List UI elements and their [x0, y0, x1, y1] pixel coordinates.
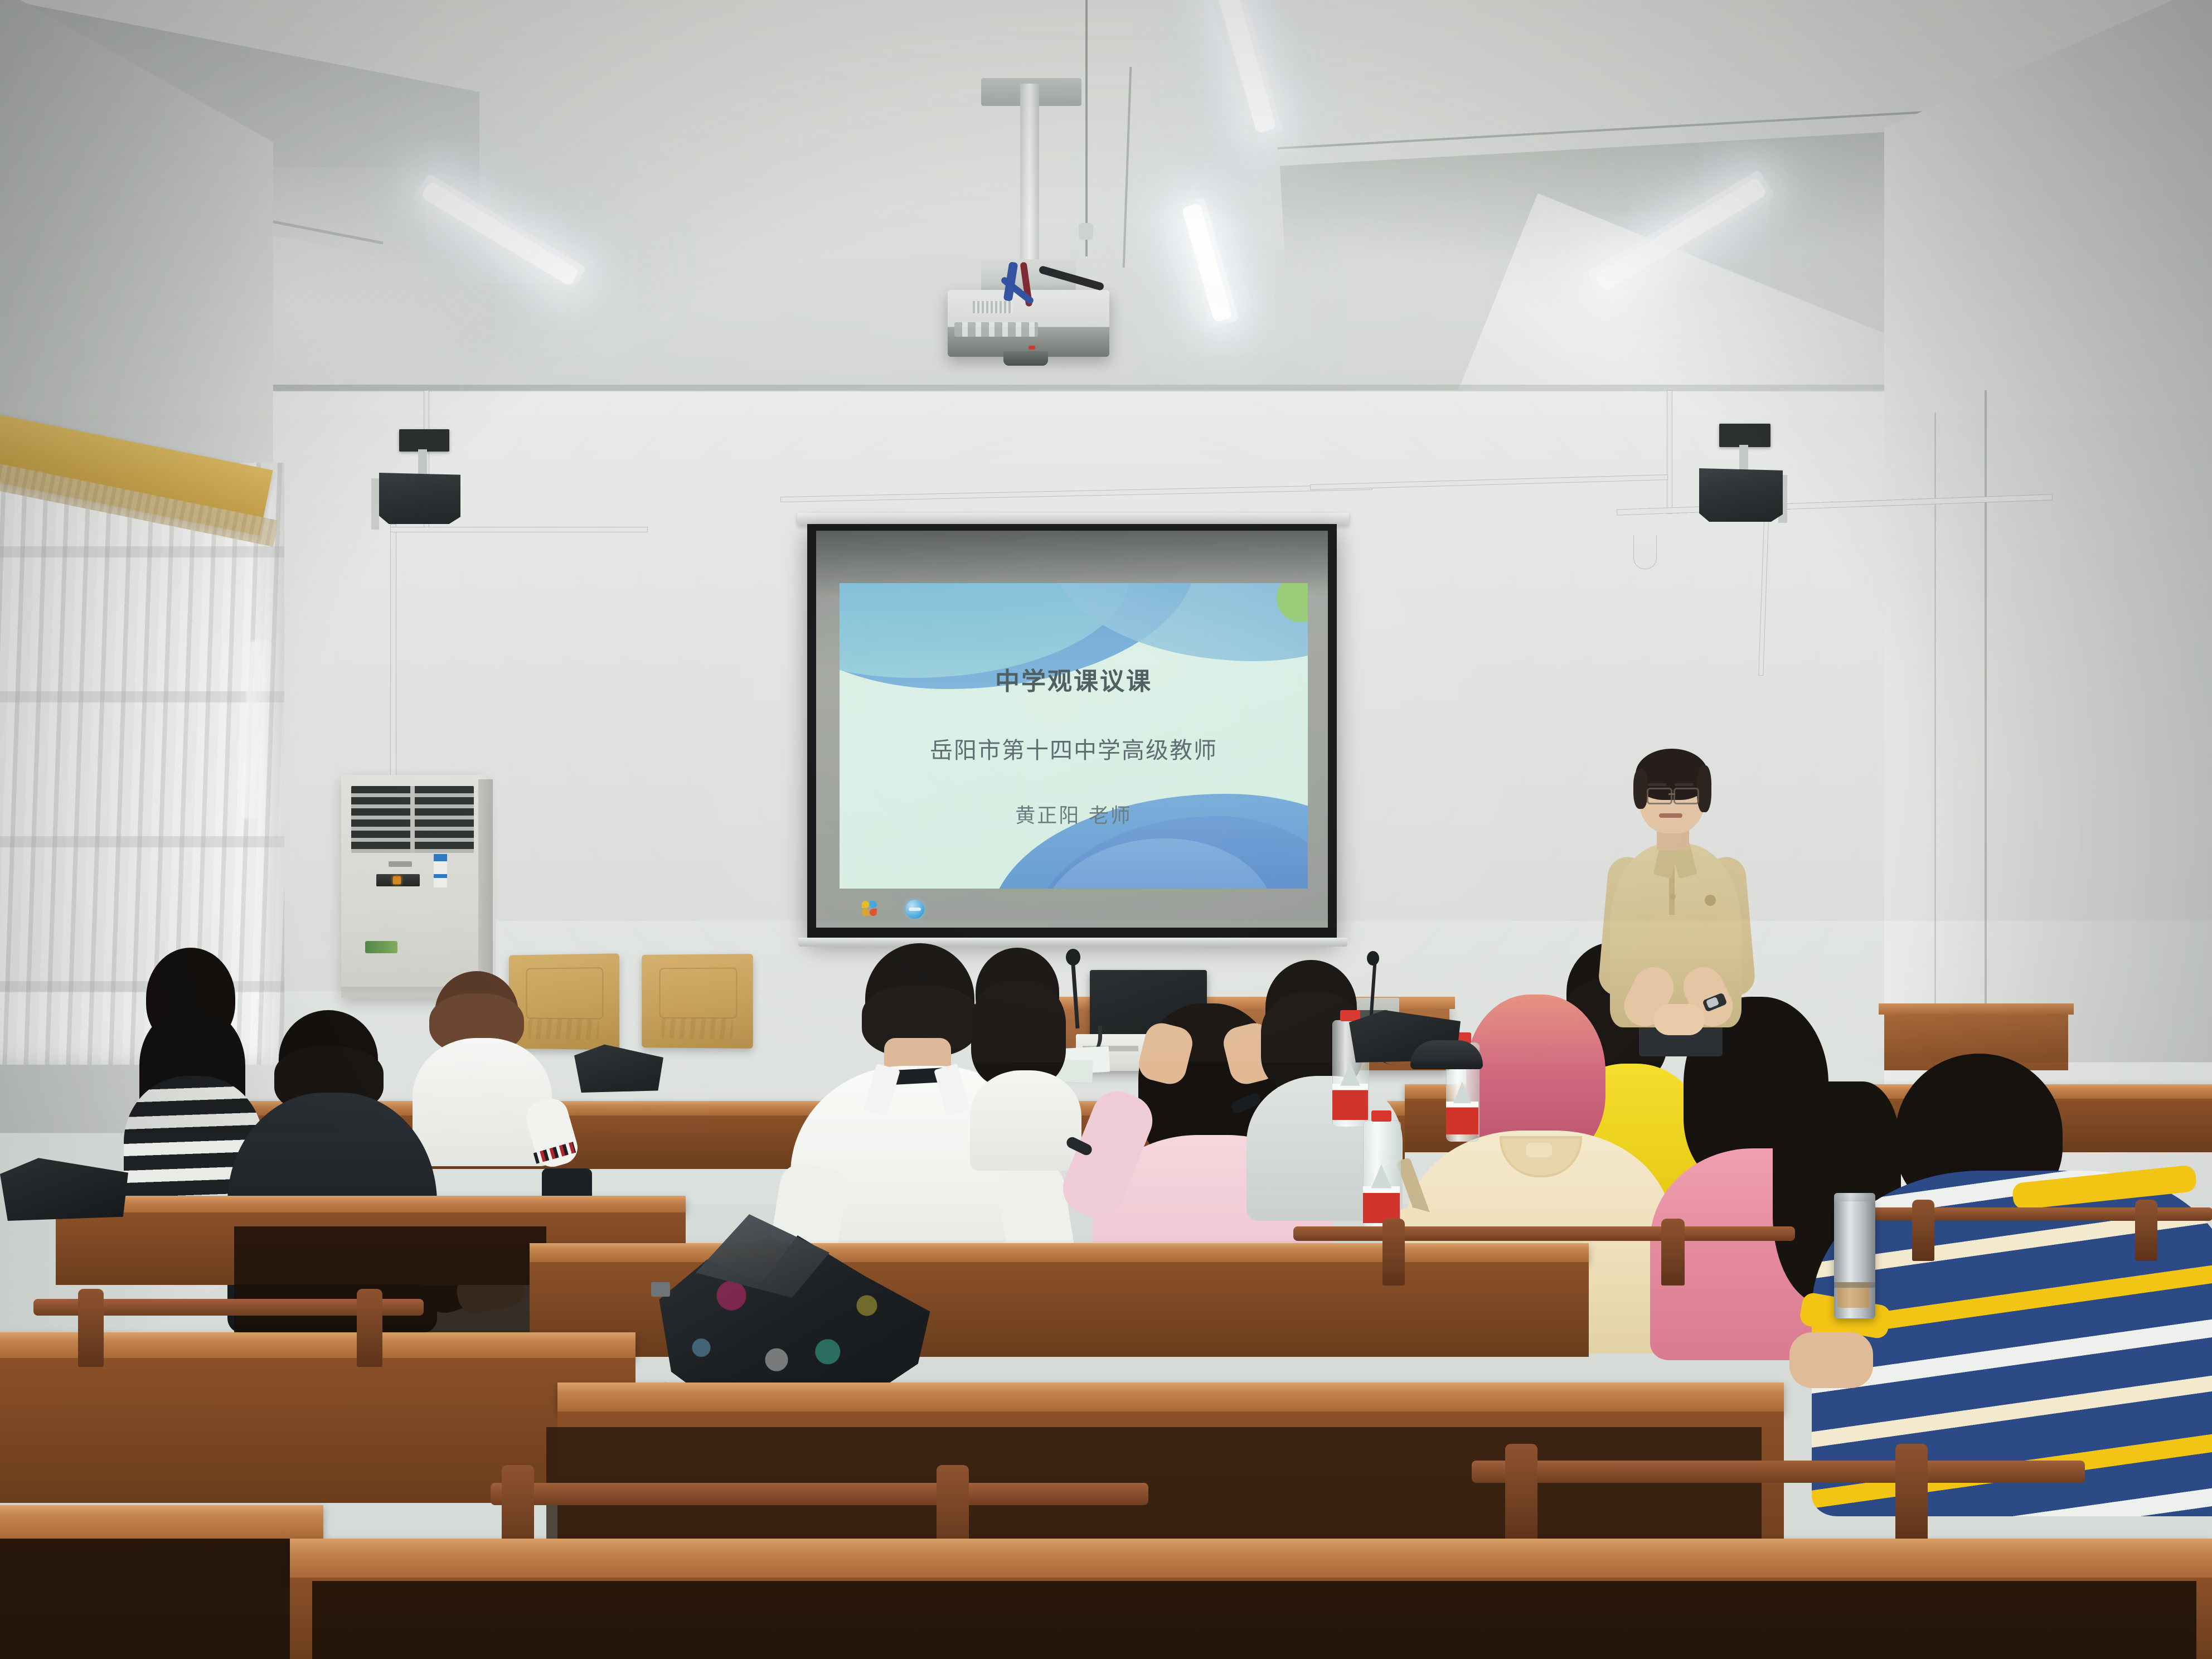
dark-cap	[1410, 1040, 1483, 1069]
decal-sticker	[365, 941, 397, 953]
screen-hanging-wire	[1085, 0, 1088, 256]
backpack-buckle	[651, 1282, 670, 1297]
conduit-pipe	[390, 527, 648, 532]
teacher-hair-side-left	[1633, 769, 1648, 809]
internet-explorer-icon[interactable]	[905, 900, 924, 919]
slide-title: 中学观课议课	[840, 661, 1308, 697]
curtain-shadow	[0, 502, 284, 1059]
water-bottle-3[interactable]	[1363, 1120, 1400, 1230]
speaker-bracket	[418, 449, 427, 477]
desk-row-2-surface	[56, 1196, 686, 1212]
bench-post-4	[2135, 1200, 2157, 1261]
side-podium-top	[1879, 1003, 2074, 1015]
air-conditioner-louvre-divider	[410, 786, 415, 853]
bench-rail-2	[1856, 1207, 2212, 1221]
conduit-pipe-bend	[1633, 535, 1657, 569]
bench-post-3	[1912, 1200, 1934, 1261]
desk-row-1b-surface	[557, 1382, 1784, 1411]
teacher-eyebrow-right	[1675, 783, 1694, 786]
teacher-eyebrow-left	[1648, 783, 1667, 786]
wall-seam-1	[1985, 390, 1987, 1015]
speaker-cabinet	[379, 473, 460, 524]
bench-rail-1	[1293, 1226, 1795, 1241]
speaker-control-panel	[399, 429, 449, 452]
thermos-band	[1834, 1282, 1875, 1288]
wps-office-icon[interactable]	[862, 901, 879, 918]
bench-post-1	[1382, 1219, 1405, 1286]
bench-post-10	[1895, 1444, 1928, 1544]
bottle-label	[1363, 1186, 1400, 1224]
speaker-bracket	[1739, 445, 1748, 472]
bench-post-2	[1661, 1219, 1685, 1286]
screen-top-rail	[797, 513, 1349, 525]
slide-subtitle: 岳阳市第十四中学高级教师	[840, 731, 1308, 765]
desk-row-0-underside	[312, 1581, 2196, 1659]
energy-label-sticker	[434, 854, 447, 887]
desktop-taskbar	[840, 891, 1308, 928]
air-conditioner-power-led	[393, 876, 401, 884]
office-chair-1[interactable]	[509, 953, 619, 1050]
speaker-wall-mount	[371, 478, 379, 530]
microphone-head-right	[1367, 951, 1379, 966]
screen-bottom-bar-metal	[798, 938, 1347, 947]
bench-post-9	[1505, 1444, 1537, 1544]
speaker-control-panel	[1719, 424, 1770, 447]
projector-status-led	[1029, 346, 1035, 350]
desk-row-0-left-underside	[0, 1539, 312, 1659]
air-conditioner-side	[478, 779, 493, 998]
glasses-bridge-icon	[1668, 793, 1675, 795]
desk-row-1-front	[0, 1358, 636, 1503]
desk-row-2-underside	[234, 1226, 546, 1349]
teacher-shirt-button	[1670, 894, 1676, 900]
speaker-cabinet	[1699, 468, 1783, 522]
office-chair-2[interactable]	[642, 954, 753, 1049]
projector-ports	[954, 322, 1038, 337]
teacher-hair-side-right	[1697, 765, 1711, 812]
desk-row-0-surface	[290, 1539, 2212, 1578]
presentation-slide: 中学观课议课 岳阳市第十四中学高级教师 黄正阳 老师	[840, 583, 1308, 889]
bench-post-5	[78, 1289, 104, 1367]
teacher-clasped-hands	[1653, 1004, 1705, 1035]
bench-post-6	[357, 1289, 382, 1367]
teacher-mouth	[1659, 813, 1682, 818]
projector-pole	[1020, 84, 1039, 268]
projector-vent	[973, 301, 1013, 313]
microphone-head-left	[1066, 949, 1080, 966]
classroom-photo: 中学观课议课 岳阳市第十四中学高级教师 黄正阳 老师	[0, 0, 2212, 1659]
desk-row-2b-surface	[530, 1243, 1589, 1262]
bottle-cap	[1340, 1010, 1360, 1021]
bench-rail-6	[491, 1483, 1148, 1505]
glasses-lens-left-icon	[1647, 788, 1672, 804]
screen-bottom-frame	[807, 928, 1337, 938]
projector-lens-housing	[1003, 351, 1048, 366]
glasses-lens-right-icon	[1673, 788, 1699, 804]
air-conditioner-brand-logo	[389, 861, 412, 867]
bottle-label	[1446, 1102, 1478, 1135]
bottle-label	[1332, 1084, 1368, 1120]
desk-row-0-left-surface	[0, 1505, 323, 1539]
conduit-pipe	[390, 524, 396, 804]
bench-rail-7	[1472, 1461, 2085, 1483]
screen-wire-hook	[1079, 223, 1093, 240]
slide-presenter-name: 黄正阳 老师	[840, 799, 1308, 828]
wall-cornice	[256, 385, 1985, 391]
bottle-cap	[1371, 1110, 1392, 1122]
teacher-shirt-logo	[1705, 895, 1716, 906]
conduit-pipe	[1667, 390, 1672, 514]
